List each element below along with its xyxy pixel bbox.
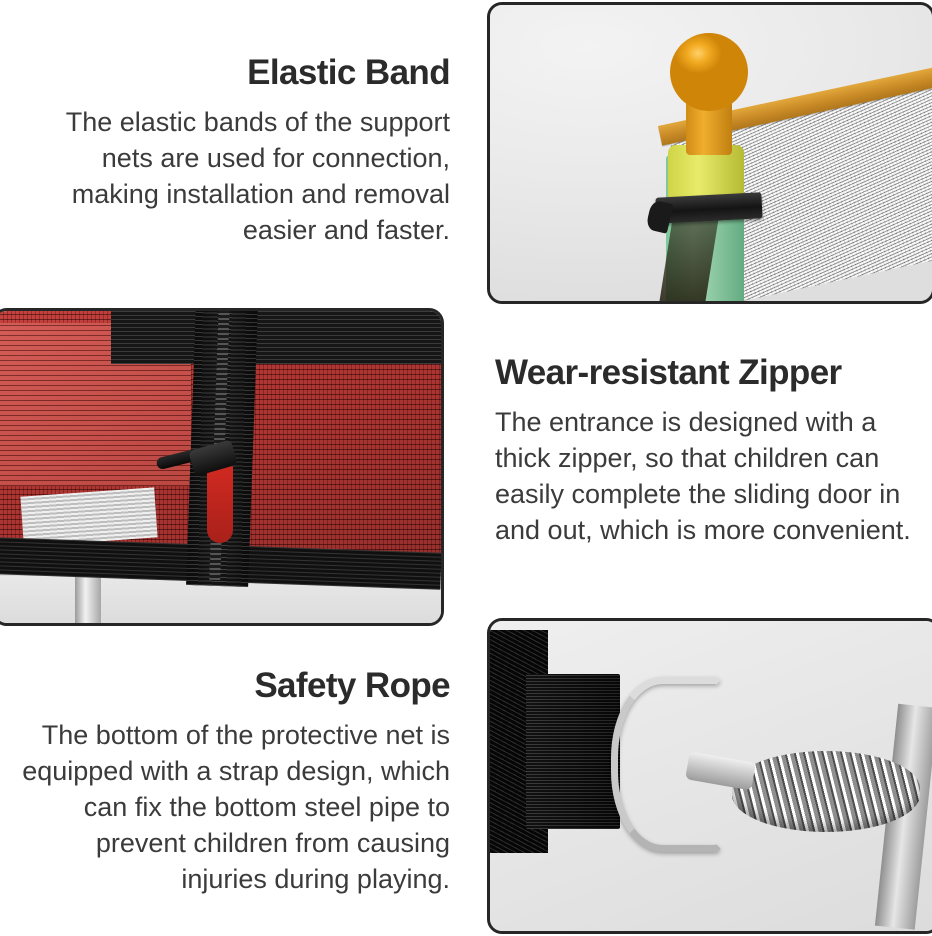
cap-ball-top <box>670 33 748 111</box>
black-webbing-strap <box>526 674 620 829</box>
feature-heading-elastic-band: Elastic Band <box>14 52 450 94</box>
black-elastic-band-strap <box>655 192 762 224</box>
coiled-steel-spring <box>732 751 920 832</box>
red-net-zipper-photo <box>0 311 441 623</box>
feature-body-zipper: The entrance is designed with a thick zi… <box>495 404 925 548</box>
net-top-black-band <box>111 311 441 364</box>
feature-heading-zipper: Wear-resistant Zipper <box>495 352 925 394</box>
strap-hook-spring-photo <box>490 621 932 931</box>
feature-text-zipper: Wear-resistant Zipper The entrance is de… <box>495 352 925 548</box>
feature-heading-safety-rope: Safety Rope <box>14 665 450 707</box>
pole-cap-elastic-band-photo <box>490 5 932 301</box>
feature-photo-elastic-band <box>487 2 932 304</box>
feature-photo-zipper <box>0 308 444 626</box>
feature-photo-safety-rope <box>487 618 932 934</box>
feature-text-elastic-band: Elastic Band The elastic bands of the su… <box>14 52 450 248</box>
net-grey-patch <box>20 487 157 546</box>
steel-pole <box>75 573 101 623</box>
feature-text-safety-rope: Safety Rope The bottom of the protective… <box>14 665 450 897</box>
feature-body-safety-rope: The bottom of the protective net is equi… <box>14 717 450 897</box>
feature-body-elastic-band: The elastic bands of the support nets ar… <box>14 104 450 248</box>
infographic-canvas: Elastic Band The elastic bands of the su… <box>0 0 932 936</box>
